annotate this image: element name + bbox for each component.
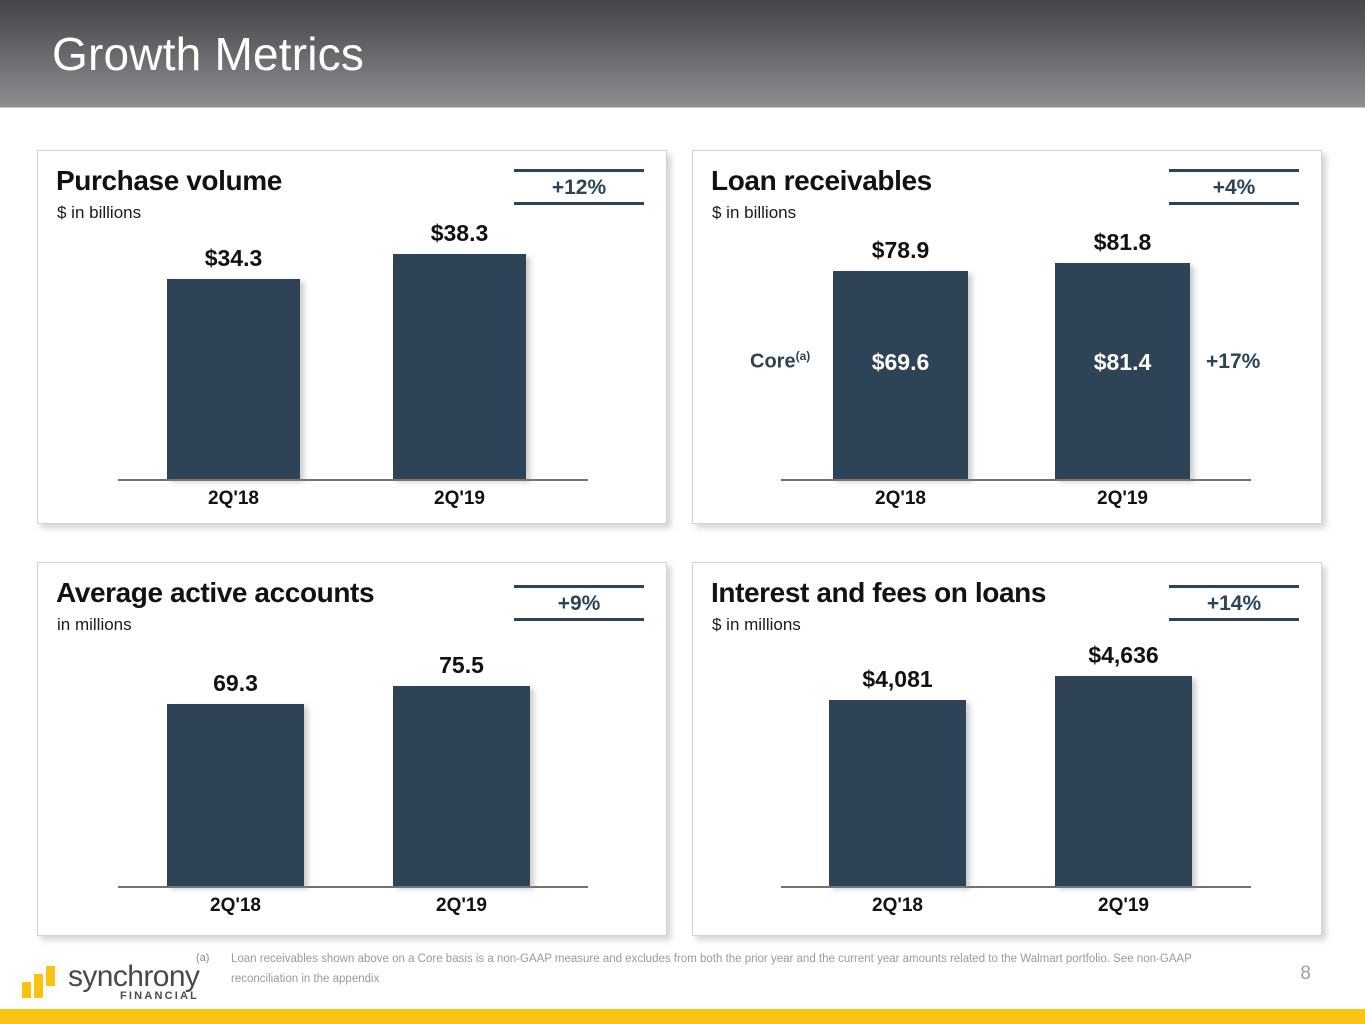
- x-tick-label: 2Q'19: [393, 895, 530, 917]
- slide-root: Growth Metrics Purchase volume $ in bill…: [0, 0, 1365, 1024]
- footnote-marker: (a): [196, 952, 209, 964]
- x-tick-label: 2Q'18: [833, 488, 968, 510]
- bar-value-label: $34.3: [167, 245, 300, 272]
- bar-inner-value-label: $69.6: [833, 349, 968, 376]
- bar-2q19: [393, 254, 526, 479]
- chart-card-purchase-volume: Purchase volume $ in billions +12% $34.3…: [37, 150, 667, 524]
- bar-value-label: $4,636: [1055, 642, 1192, 669]
- bar-chart-plot: $4,081 $4,636 2Q'18 2Q'19: [693, 563, 1321, 935]
- x-tick-label: 2Q'19: [393, 488, 526, 510]
- bar-2q19: [393, 686, 530, 886]
- x-axis-line: [781, 886, 1251, 888]
- logo-sub-wordmark: FINANCIAL: [120, 990, 199, 1002]
- bar-value-label: $78.9: [833, 237, 968, 264]
- bar-inner-value-label: $81.4: [1055, 349, 1190, 376]
- logo-wordmark: synchrony: [68, 962, 199, 992]
- x-tick-label: 2Q'19: [1055, 488, 1190, 510]
- core-label-text: Core: [750, 351, 796, 373]
- bar-value-label: $38.3: [393, 220, 526, 247]
- bar-value-label: 69.3: [167, 670, 304, 697]
- page-title: Growth Metrics: [52, 27, 364, 81]
- logo-bars-icon: [22, 966, 60, 998]
- slide-header: Growth Metrics: [0, 0, 1365, 108]
- core-footnote-marker: (a): [796, 349, 811, 363]
- bottom-accent-strip: [0, 1009, 1365, 1024]
- page-number: 8: [1300, 963, 1311, 985]
- bar-chart-plot: $34.3 $38.3 2Q'18 2Q'19: [38, 151, 666, 523]
- bar-2q18: [829, 700, 966, 886]
- bar-2q18: [167, 704, 304, 886]
- chart-card-interest-and-fees: Interest and fees on loans $ in millions…: [692, 562, 1322, 936]
- x-tick-label: 2Q'18: [167, 488, 300, 510]
- bar-chart-plot: 69.3 75.5 2Q'18 2Q'19: [38, 563, 666, 935]
- bar-2q19: [1055, 676, 1192, 886]
- x-tick-label: 2Q'19: [1055, 895, 1192, 917]
- chart-card-average-active-accounts: Average active accounts in millions +9% …: [37, 562, 667, 936]
- x-tick-label: 2Q'18: [167, 895, 304, 917]
- footnote-text: Loan receivables shown above on a Core b…: [231, 949, 1261, 989]
- bar-2q18: [167, 279, 300, 479]
- core-series-label: Core(a): [750, 349, 810, 374]
- bar-value-label: $4,081: [829, 666, 966, 693]
- synchrony-financial-logo: synchrony FINANCIAL: [22, 960, 192, 1004]
- bar-value-label: 75.5: [393, 652, 530, 679]
- x-tick-label: 2Q'18: [829, 895, 966, 917]
- bar-value-label: $81.8: [1055, 229, 1190, 256]
- x-axis-line: [118, 479, 588, 481]
- x-axis-line: [781, 479, 1251, 481]
- bar-chart-plot: $78.9 $81.8 Core(a) $69.6 $81.4 +17% 2Q'…: [693, 151, 1321, 523]
- x-axis-line: [118, 886, 588, 888]
- core-growth-label: +17%: [1206, 350, 1260, 374]
- chart-card-loan-receivables: Loan receivables $ in billions +4% $78.9…: [692, 150, 1322, 524]
